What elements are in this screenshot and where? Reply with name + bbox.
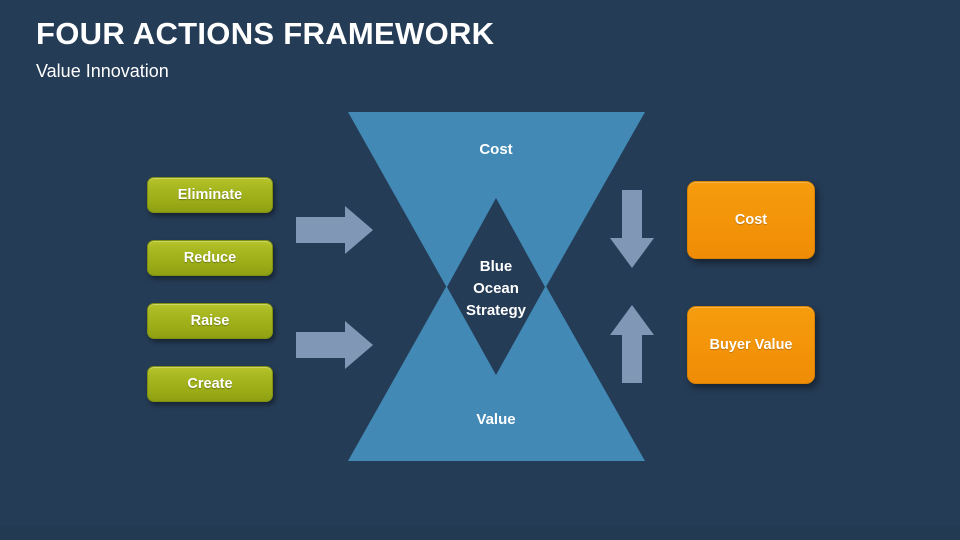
arrow-down-cost-icon <box>610 190 654 268</box>
footer-band <box>0 526 960 540</box>
outcome-box-cost[interactable]: Cost <box>687 181 815 259</box>
action-button-create[interactable]: Create <box>147 366 273 402</box>
cost-triangle-label: Cost <box>479 141 512 158</box>
cost-triangle <box>348 112 645 375</box>
page-title: FOUR ACTIONS FRAMEWORK <box>36 16 494 52</box>
action-button-raise[interactable]: Raise <box>147 303 273 339</box>
action-button-reduce[interactable]: Reduce <box>147 240 273 276</box>
core-label-line-2: Ocean <box>473 280 519 297</box>
outcome-box-buyer-value[interactable]: Buyer Value <box>687 306 815 384</box>
action-button-eliminate[interactable]: Eliminate <box>147 177 273 213</box>
slide-canvas: FOUR ACTIONS FRAMEWORK Value Innovation … <box>0 0 960 540</box>
core-label-line-3: Strategy <box>466 302 527 319</box>
value-triangle-label: Value <box>476 411 515 428</box>
arrow-right-upper-icon <box>296 206 373 254</box>
core-label-line-1: Blue <box>480 258 513 275</box>
arrow-right-lower-icon <box>296 321 373 369</box>
arrow-up-buyer-value-icon <box>610 305 654 383</box>
blue-ocean-core-diamond <box>447 198 545 375</box>
value-triangle <box>348 198 645 461</box>
page-subtitle: Value Innovation <box>36 61 169 82</box>
